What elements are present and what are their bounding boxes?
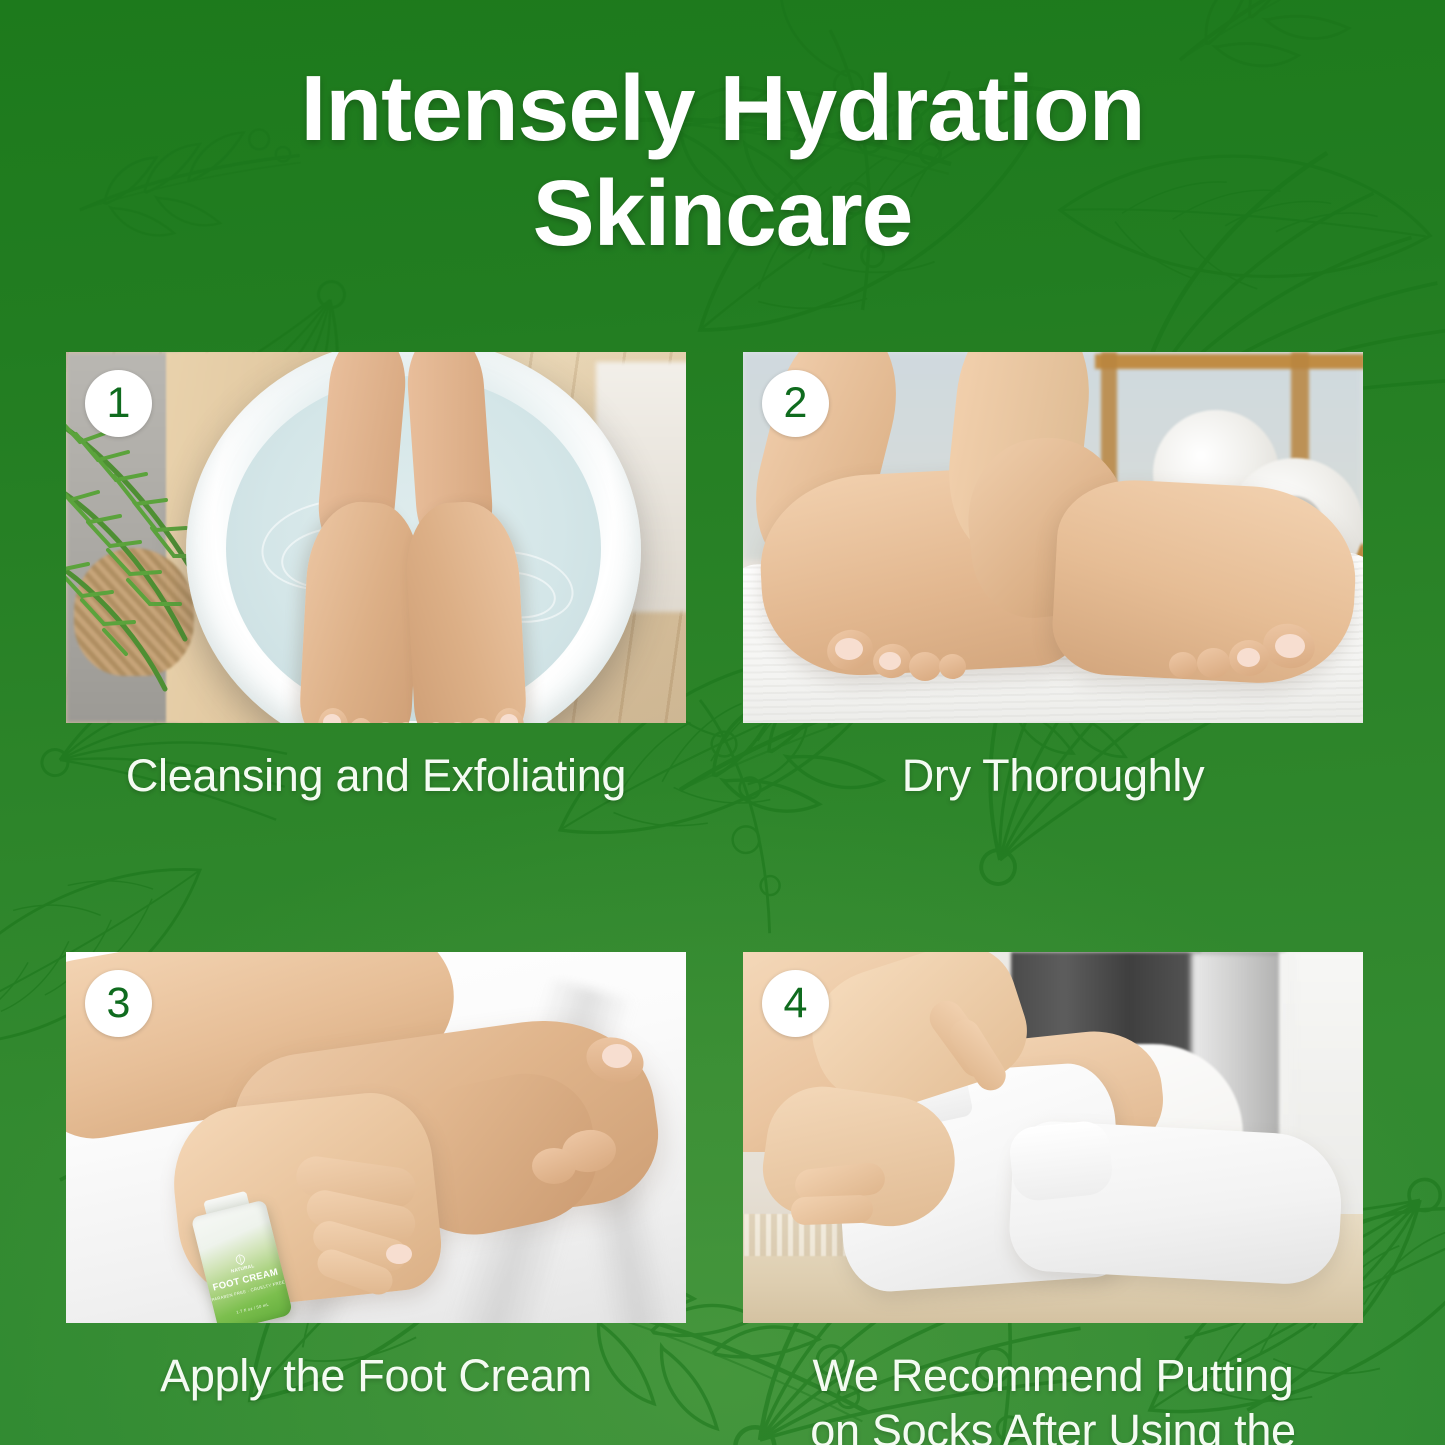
step-4-photo: 4 [743,952,1363,1323]
scene-apply-foot-cream: NATURAL FOOT CREAM PARABEN FREE · CRUELT… [66,952,686,1323]
scene-putting-on-socks [743,952,1363,1323]
step-card-1: 1 Cleansing and Exfoliating [66,352,686,804]
step-caption-2: Dry Thoroughly [743,749,1363,804]
step-badge-2: 2 [762,370,829,437]
step-badge-1: 1 [85,370,152,437]
step-card-4: 4 We Recommend Putting on Socks After Us… [743,952,1363,1445]
step-badge-4: 4 [762,970,829,1037]
step-badge-3: 3 [85,970,152,1037]
infographic-root: Intensely Hydration Skincare [0,0,1445,1445]
scene-dry-feet-on-towel [743,352,1363,723]
step-3-photo: NATURAL FOOT CREAM PARABEN FREE · CRUELT… [66,952,686,1323]
page-title: Intensely Hydration Skincare [0,56,1445,266]
step-card-2: 2 Dry Thoroughly [743,352,1363,804]
step-2-photo: 2 [743,352,1363,723]
scene-foot-bath [66,352,686,723]
step-1-photo: 1 [66,352,686,723]
title-line-2: Skincare [0,161,1445,266]
step-caption-1: Cleansing and Exfoliating [66,749,686,804]
step-caption-3: Apply the Foot Cream [66,1349,686,1404]
steps-grid: 1 Cleansing and Exfoliating [66,352,1363,1445]
title-line-1: Intensely Hydration [0,56,1445,161]
step-caption-4: We Recommend Putting on Socks After Usin… [743,1349,1363,1445]
step-card-3: NATURAL FOOT CREAM PARABEN FREE · CRUELT… [66,952,686,1445]
